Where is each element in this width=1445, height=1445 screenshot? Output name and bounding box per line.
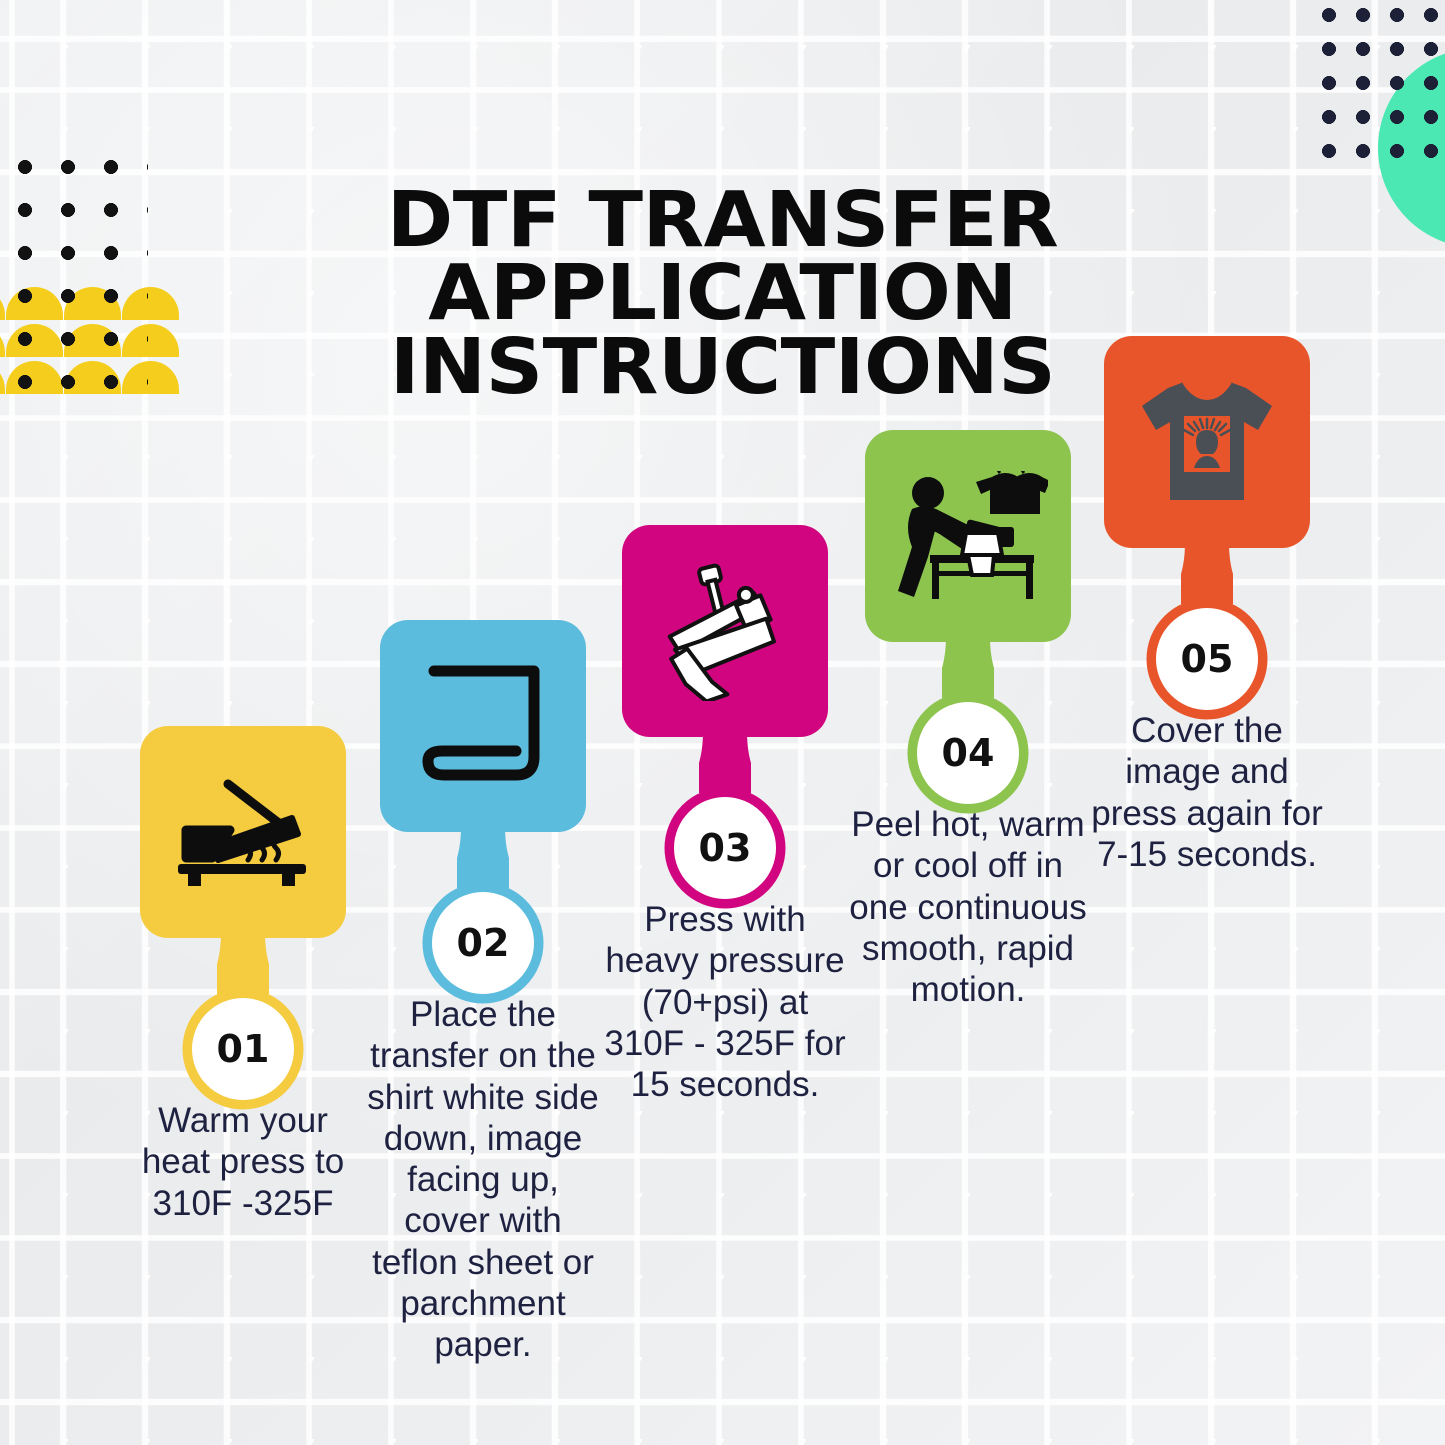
step-number-02: 02 <box>432 892 534 994</box>
step-icon-card-02 <box>380 620 586 832</box>
step-item-04: 04 Peel hot, warm or cool off in one con… <box>843 430 1093 1010</box>
step-number-05: 05 <box>1156 608 1258 710</box>
heat-press-machine-icon <box>650 561 800 701</box>
step-connector-05: 05 <box>1082 546 1332 698</box>
heat-press-open-icon <box>168 772 318 892</box>
infographic-canvas: DTF TRANSFER APPLICATION INSTRUCTIONS <box>0 0 1445 1445</box>
peeling-worker-icon <box>888 471 1048 601</box>
step-number-01: 01 <box>192 998 294 1100</box>
step-number-04: 04 <box>917 702 1019 804</box>
step-description-05: Cover the image and press again for 7-15… <box>1082 710 1332 875</box>
step-item-03: 03 Press with heavy pressure (70+psi) at… <box>600 525 850 1105</box>
step-item-05: 05 Cover the image and press again for 7… <box>1082 336 1332 875</box>
step-connector-03: 03 <box>600 735 850 887</box>
step-connector-04: 04 <box>843 640 1093 792</box>
step-icon-card-01 <box>140 726 346 938</box>
transfer-sheet-icon <box>416 661 551 791</box>
step-description-01: Warm your heat press to 310F -325F <box>118 1100 368 1224</box>
step-description-02: Place the transfer on the shirt white si… <box>358 994 608 1366</box>
step-item-01: 01 Warm your heat press to 310F -325F <box>118 726 368 1224</box>
step-description-03: Press with heavy pressure (70+psi) at 31… <box>600 899 850 1105</box>
step-description-04: Peel hot, warm or cool off in one contin… <box>843 804 1093 1010</box>
step-icon-card-04 <box>865 430 1071 642</box>
step-connector-02: 02 <box>358 830 608 982</box>
step-icon-card-03 <box>622 525 828 737</box>
page-title: DTF TRANSFER APPLICATION INSTRUCTIONS <box>0 184 1445 406</box>
step-connector-01: 01 <box>118 936 368 1088</box>
step-item-02: 02 Place the transfer on the shirt white… <box>358 620 608 1366</box>
step-number-03: 03 <box>674 797 776 899</box>
